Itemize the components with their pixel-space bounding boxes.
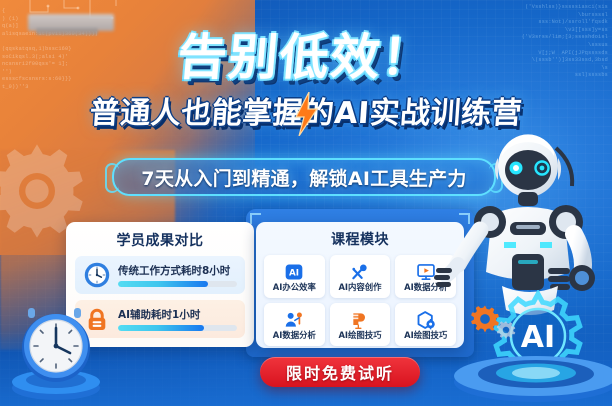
ai-badge-icon: AI	[284, 262, 304, 282]
title-block: 告别低效！	[0, 18, 612, 89]
modules-card-title: 课程模块	[264, 229, 456, 249]
lightning-bolt-icon	[293, 92, 319, 136]
microphone-pen-icon	[350, 262, 370, 282]
results-row-traditional-progress	[118, 281, 237, 287]
robot-podium	[452, 352, 612, 406]
page-title: 告别低效！	[175, 18, 436, 89]
module-item-draw-1[interactable]: AI绘图技巧	[330, 303, 391, 346]
module-item-content[interactable]: AI内容创作	[330, 255, 391, 298]
results-row-ai-label: AI辅助耗时1小时	[118, 307, 237, 322]
module-label: AI内容创作	[338, 283, 381, 291]
module-label: AI办公效率	[273, 283, 316, 291]
clock-icon	[83, 261, 111, 289]
tagline-text: 7天从入门到精通，解锁AI工具生产力	[141, 164, 466, 191]
module-label: AI绘图技巧	[338, 331, 381, 339]
results-row-traditional: 传统工作方式耗时8小时	[75, 256, 245, 294]
results-row-ai-progress	[118, 325, 237, 331]
results-card-title: 学员成果对比	[75, 230, 245, 250]
free-trial-button[interactable]: 限时免费试听	[260, 357, 420, 387]
alarm-clock-image	[4, 292, 108, 402]
progress-fill	[118, 325, 204, 331]
tagline-cap-left	[105, 163, 119, 193]
results-row-traditional-body: 传统工作方式耗时8小时	[118, 263, 237, 287]
results-row-ai-body: AI辅助耗时1小时	[118, 307, 237, 331]
paint-brush-icon	[350, 310, 370, 330]
module-label: AI数据分析	[273, 331, 316, 339]
subtitle-pre: 普通人也能掌握	[89, 88, 306, 132]
results-row-traditional-label: 传统工作方式耗时8小时	[118, 263, 237, 278]
free-trial-button-label: 限时免费试听	[286, 360, 394, 384]
ai-badge-text: AI	[521, 320, 555, 355]
svg-text:AI: AI	[289, 268, 299, 278]
modules-grid: AI AI办公效率 AI内容创作 AI数据分析	[264, 255, 456, 346]
module-item-data-2[interactable]: AI数据分析	[264, 303, 325, 346]
progress-fill	[118, 281, 208, 287]
user-analytics-icon	[284, 310, 304, 330]
poster-root: { ) (1) q(a)] alisqsaein:it(pvii)360(34)…	[0, 0, 612, 406]
module-item-office[interactable]: AI AI办公效率	[264, 255, 325, 298]
